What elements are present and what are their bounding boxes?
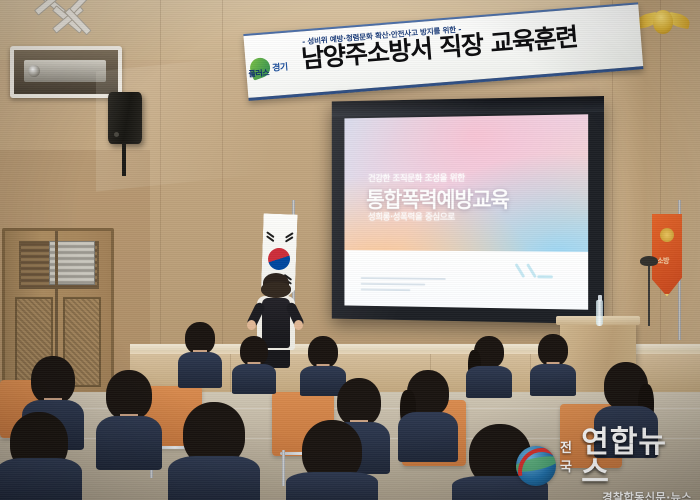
slide-footer [344, 250, 588, 310]
presenter-hand-right [294, 320, 303, 330]
watermark-text-block: 전국 연합뉴스 경찰합동신문·뉴스 [560, 428, 692, 500]
presentation-slide: 건강한 조직문화 조성을 위한 통합폭력예방교육 성희롱·성폭력을 중심으로 [344, 114, 588, 309]
microphone-stand [648, 262, 650, 326]
slide-subtitle: 성희롱·성폭력을 중심으로 [368, 210, 455, 223]
photo-scene: 경기 플러스 - 성비위 예방·청렴문화 확산·안전사고 방지를 위한 - 남양… [0, 0, 700, 500]
audience-member [178, 322, 222, 388]
speaker-mount-arm [122, 142, 126, 176]
audience-member [168, 402, 260, 500]
banner-logo: 경기 [249, 48, 304, 86]
news-globe-icon [516, 446, 556, 486]
audience-member [398, 370, 458, 462]
audience-member [286, 420, 378, 500]
audience-member [96, 370, 162, 470]
slide-corner-logo-icon [512, 267, 555, 283]
news-watermark: 전국 연합뉴스 경찰합동신문·뉴스 [516, 438, 692, 494]
banner-logo-word: 플러스 [248, 67, 269, 80]
microphone-icon [640, 256, 658, 266]
watermark-prefix: 전국 [560, 437, 581, 475]
audience-member [530, 334, 576, 396]
slide-footer-text-lines [361, 277, 450, 296]
audience-member [0, 412, 82, 500]
presenter-hair-side [261, 282, 291, 298]
watermark-brand: 연합뉴스 [581, 428, 692, 488]
ceremonial-flag-text: 소방 [657, 256, 669, 266]
government-emblem-icon [636, 6, 690, 40]
water-bottle [596, 300, 603, 326]
watermark-subtitle: 경찰합동신문·뉴스 [560, 489, 692, 500]
banner-logo-text: 경기 [272, 59, 289, 73]
wall-speaker [108, 92, 142, 144]
emblem-core [653, 10, 673, 34]
taeguk-circle-icon [268, 248, 291, 271]
projection-screen: 건강한 조직문화 조성을 위한 통합폭력예방교육 성희롱·성폭력을 중심으로 [332, 96, 604, 324]
presenter-hand-left [247, 320, 256, 330]
projector-lens-icon [28, 65, 40, 77]
ceremonial-flag-emblem-icon [660, 228, 674, 242]
projector-lift-assembly [8, 0, 116, 92]
news-swoosh-icon [516, 446, 556, 486]
audience-member [232, 336, 276, 394]
projector-cage [10, 46, 122, 98]
audience-member [466, 336, 512, 398]
